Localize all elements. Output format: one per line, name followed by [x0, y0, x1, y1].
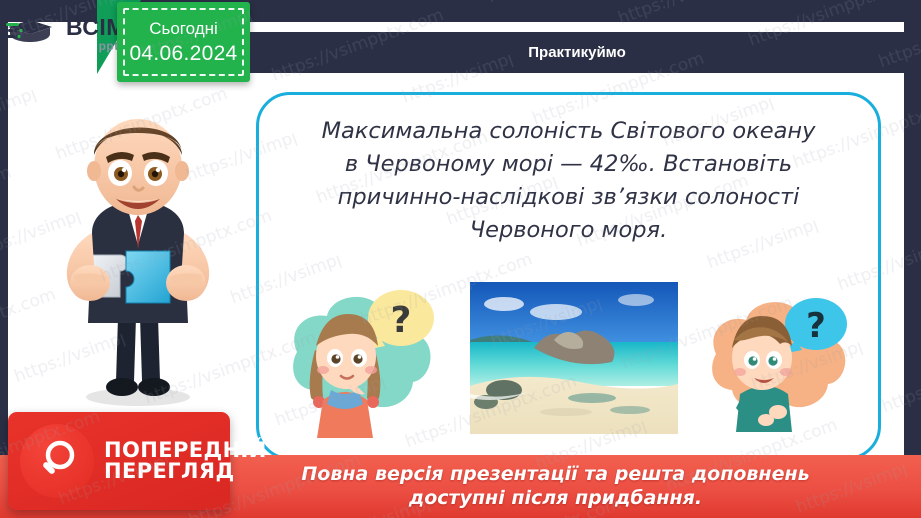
banner-line-1: Повна версія презентації та решта доповн…: [301, 463, 809, 486]
date-badge-value: 04.06.2024: [129, 42, 237, 66]
card-text-line: Червоного моря.: [281, 214, 856, 247]
graduation-cap-icon: [6, 14, 62, 54]
brand-logo: ВСІМ pptx: [6, 14, 126, 54]
question-mark-glyph: ?: [806, 306, 826, 346]
date-badge: Сьогодні 04.06.2024: [117, 2, 250, 82]
card-text-line: в Червоному морі — 42‰. Встановіть: [281, 148, 856, 181]
card-text-line: Максимальна солоність Світового океану: [281, 115, 856, 148]
card-text-line: причинно-наслідкові зв’язки солоності: [281, 181, 856, 214]
page-title: Практикуймо: [528, 44, 626, 61]
question-mark-glyph: ?: [391, 300, 412, 341]
content-card: Максимальна солоність Світового океану в…: [256, 92, 881, 460]
date-badge-label: Сьогодні: [149, 19, 218, 39]
presentation-slide: ВСІМ pptx Сьогодні 04.06.2024 Практикуйм…: [0, 0, 921, 518]
card-media-row: ?: [279, 278, 858, 443]
red-sea-beach-photo: [470, 282, 678, 439]
slide-header-bar: Практикуймо: [250, 32, 904, 73]
magnifier-icon: [20, 424, 94, 498]
thinking-boy-illustration: ?: [700, 284, 858, 437]
preview-badge-line-2: ПЕРЕГЛЯД: [104, 461, 267, 482]
preview-badge-line-1: ПОПЕРЕДНІЙ: [104, 440, 267, 461]
thinking-girl-illustration: ?: [279, 278, 447, 443]
preview-badge: ПОПЕРЕДНІЙ ПЕРЕГЛЯД: [8, 412, 230, 510]
banner-line-2: доступні після придбання.: [409, 487, 702, 510]
businessman-puzzle-illustration: [30, 105, 245, 415]
card-body-text: Максимальна солоність Світового океану в…: [281, 115, 856, 247]
